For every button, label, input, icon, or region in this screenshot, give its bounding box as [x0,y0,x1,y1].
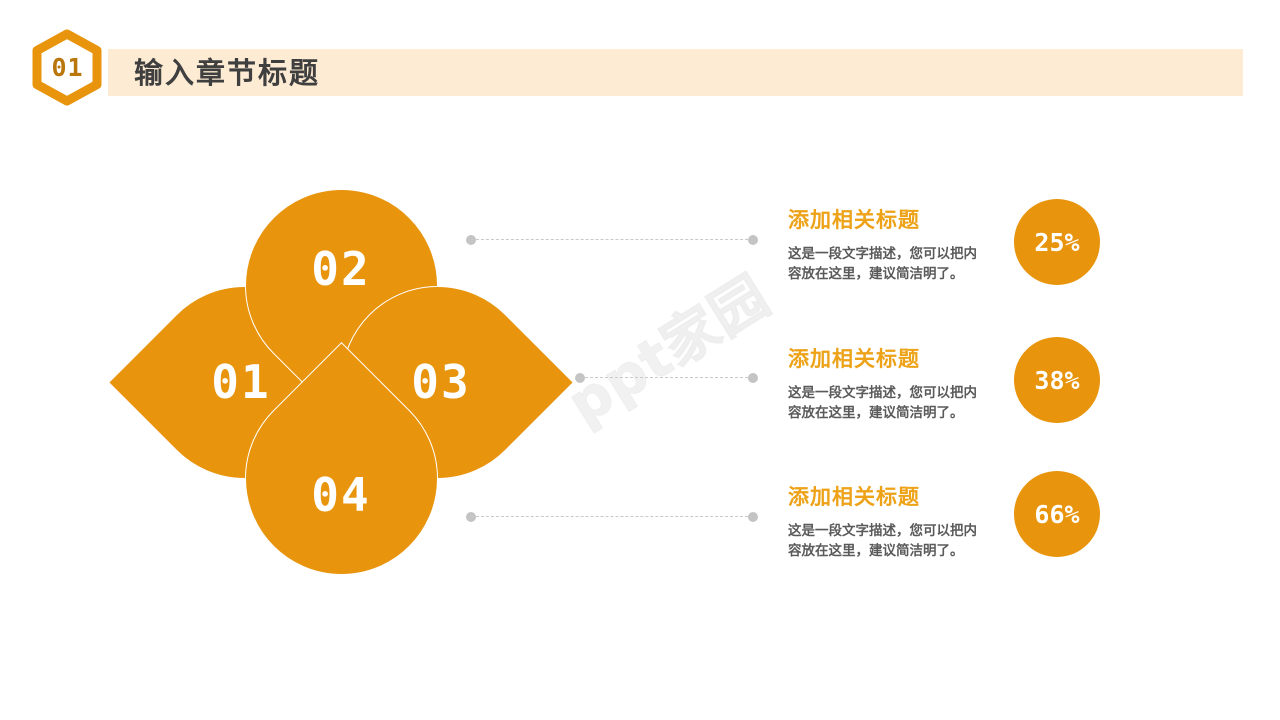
connector-line-3 [466,512,758,522]
petal-02-label: 02 [281,241,401,297]
connector-dot-end [748,512,758,522]
info-body-1: 这是一段文字描述，您可以把内容放在这里，建议简洁明了。 [788,244,988,284]
slide-canvas: 01 输入章节标题 ppt家园 01 02 03 04 添加相关标题 这是一段文… [0,0,1280,720]
connector-dashes [580,377,753,378]
page-title: 输入章节标题 [134,54,320,92]
info-title-3: 添加相关标题 [788,483,998,511]
connector-dot-start [466,512,476,522]
info-block-1: 添加相关标题 这是一段文字描述，您可以把内容放在这里，建议简洁明了。 [788,206,998,284]
connector-dashes [471,516,753,517]
petal-03-label: 03 [381,354,501,410]
connector-dot-end [748,373,758,383]
percent-badge-3: 66% [1014,471,1100,557]
info-body-2: 这是一段文字描述，您可以把内容放在这里，建议简洁明了。 [788,383,988,423]
connector-line-2 [575,373,758,383]
petal-04-label: 04 [281,467,401,523]
connector-dot-start [466,235,476,245]
connector-line-1 [466,235,758,245]
info-title-1: 添加相关标题 [788,206,998,234]
watermark-text: ppt家园 [543,259,768,461]
petal-01-label: 01 [181,354,301,410]
percent-badge-1: 25% [1014,199,1100,285]
connector-dashes [471,239,753,240]
info-block-2: 添加相关标题 这是一段文字描述，您可以把内容放在这里，建议简洁明了。 [788,345,998,423]
info-title-2: 添加相关标题 [788,345,998,373]
info-body-3: 这是一段文字描述，您可以把内容放在这里，建议简洁明了。 [788,521,988,561]
connector-dot-start [575,373,585,383]
info-block-3: 添加相关标题 这是一段文字描述，您可以把内容放在这里，建议简洁明了。 [788,483,998,561]
section-number-label: 01 [29,29,105,106]
connector-dot-end [748,235,758,245]
section-number-badge: 01 [29,29,105,106]
percent-badge-2: 38% [1014,337,1100,423]
